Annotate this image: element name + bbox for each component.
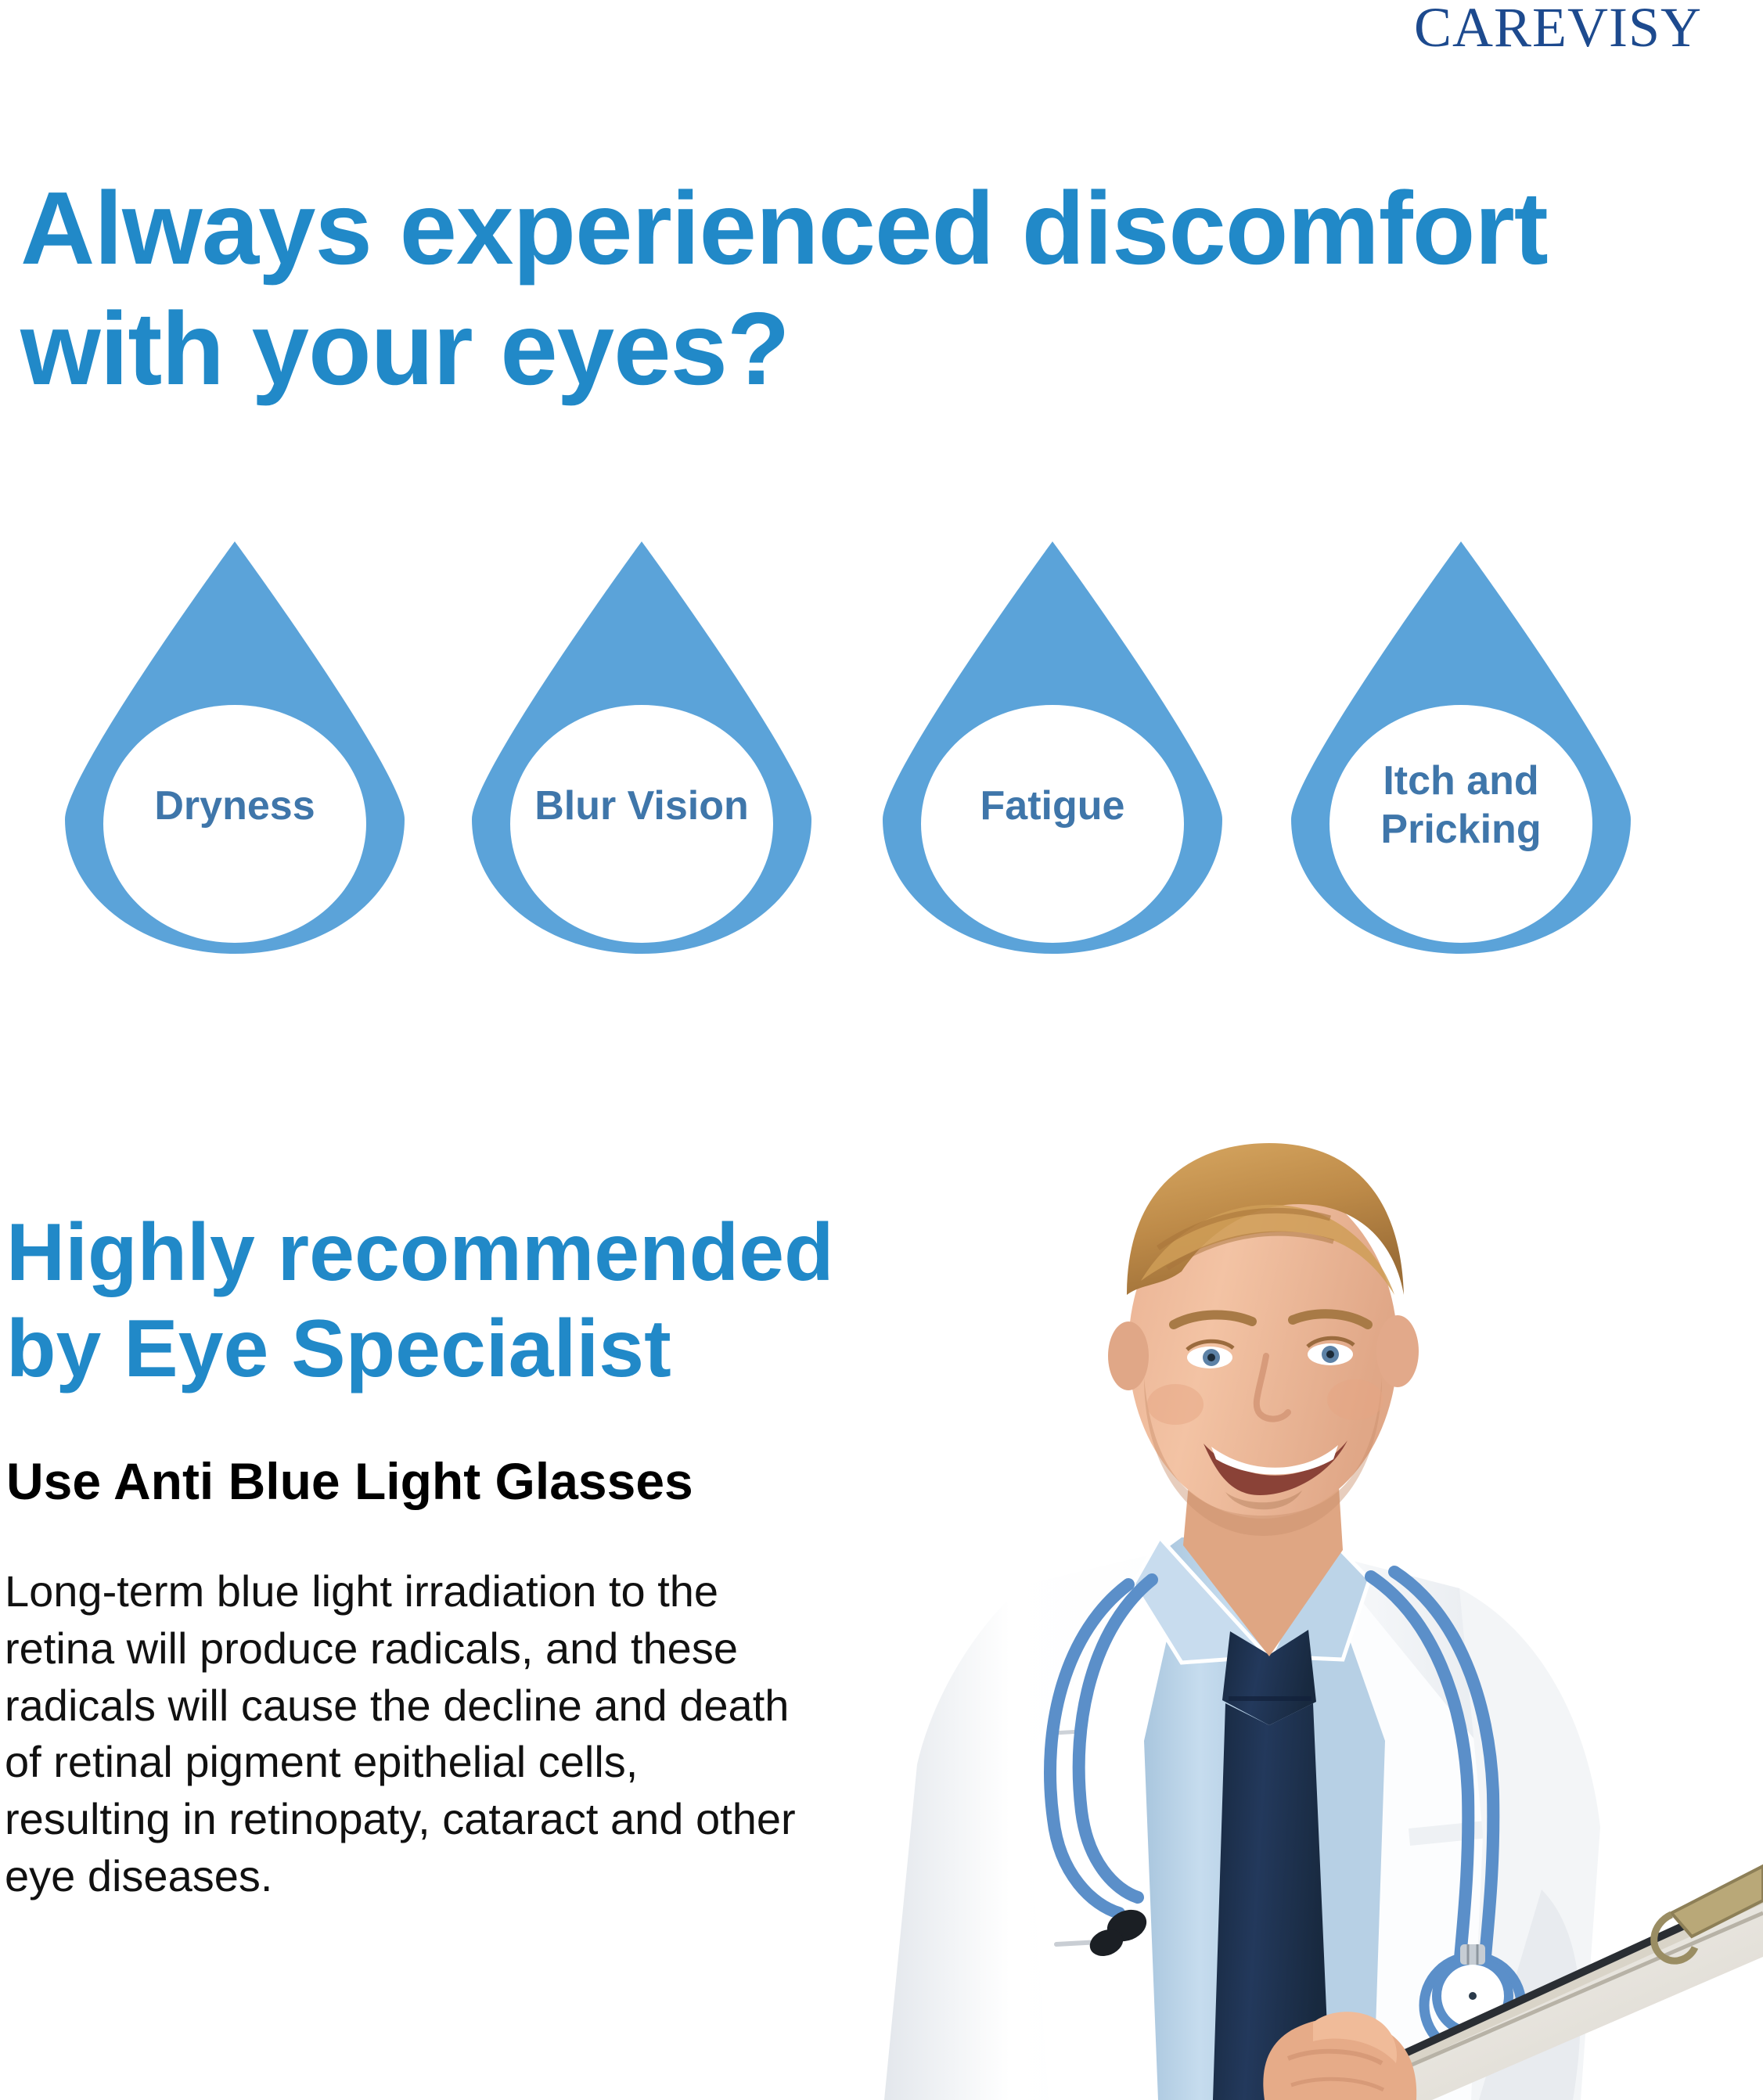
recommend-line-2: by Eye Specialist — [6, 1301, 883, 1397]
water-drop-icon — [458, 538, 826, 957]
water-drop-icon — [869, 538, 1236, 957]
hero-line-2: with your eyes? — [20, 289, 1742, 409]
brand-logo: CAREVISY — [1414, 0, 1702, 60]
product-body-copy: Long-term blue light irradiation to the … — [5, 1563, 811, 1905]
doctor-photo — [790, 1037, 1763, 2100]
water-drop-icon — [51, 538, 419, 957]
hero-line-1: Always experienced discomfort — [20, 168, 1742, 289]
symptom-droplet-dryness[interactable]: Dryness — [51, 538, 419, 957]
product-subheading: Use Anti Blue Light Glasses — [6, 1451, 693, 1511]
symptom-droplet-blur-vision[interactable]: Blur Vision — [458, 538, 826, 957]
symptom-droplet-fatigue[interactable]: Fatigue — [869, 538, 1236, 957]
doctor-illustration — [790, 1037, 1763, 2100]
recommend-heading: Highly recommended by Eye Specialist — [6, 1205, 883, 1397]
page-title: Always experienced discomfort with your … — [20, 168, 1742, 410]
symptom-droplet-itch-and-pricking[interactable]: Itch and Pricking — [1277, 538, 1645, 957]
head — [1108, 1143, 1419, 1536]
symptom-droplet-row: Dryness Blur Vision Fatigue Itch and Pri… — [0, 538, 1763, 961]
water-drop-icon — [1277, 538, 1645, 957]
recommend-line-1: Highly recommended — [6, 1205, 883, 1301]
